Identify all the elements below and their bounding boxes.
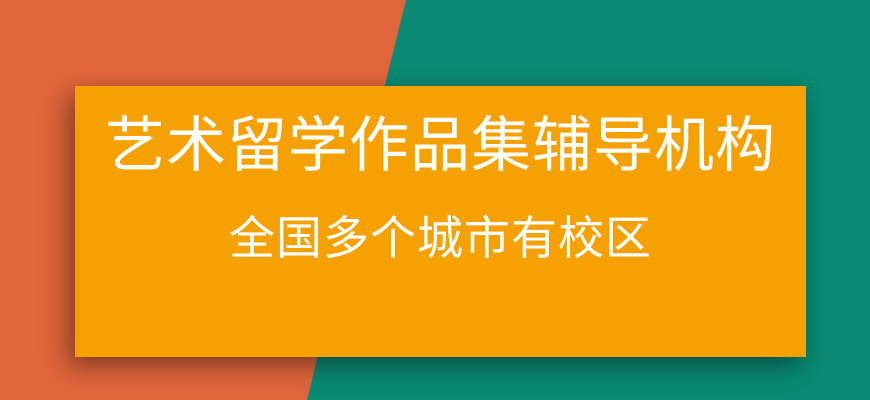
banner-subheadline: 全国多个城市有校区: [229, 212, 652, 265]
headline-card: 艺术留学作品集辅导机构 全国多个城市有校区: [75, 86, 806, 357]
banner-headline: 艺术留学作品集辅导机构: [105, 112, 776, 182]
promo-banner: 艺术留学作品集辅导机构 全国多个城市有校区: [0, 0, 870, 400]
